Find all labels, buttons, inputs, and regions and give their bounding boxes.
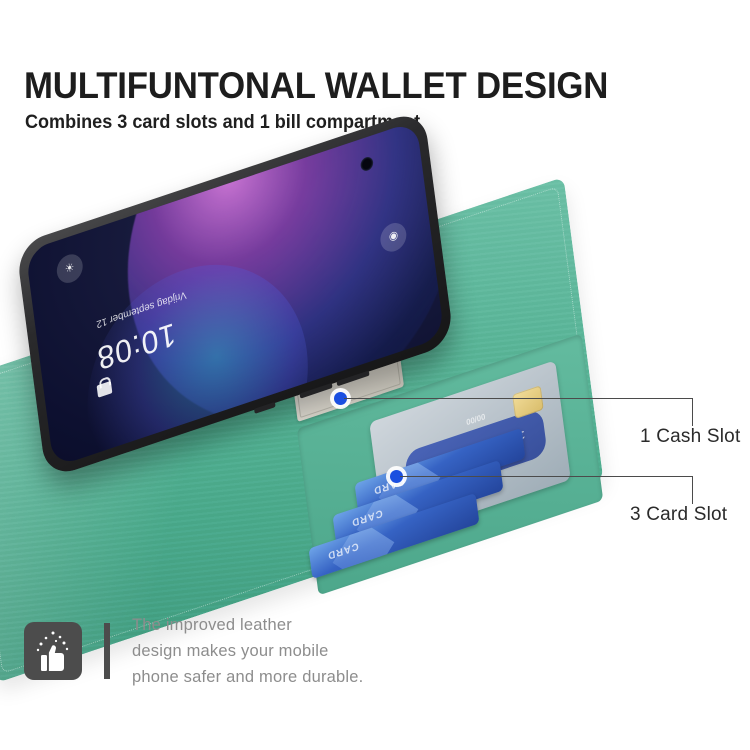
- thumbs-up-icon: [24, 622, 82, 680]
- flashlight-icon[interactable]: ☀: [55, 251, 84, 287]
- footer-line-2: design makes your mobile: [132, 638, 363, 664]
- callout-leader-card-slot-vertical: [692, 476, 693, 504]
- callout-leader-card-slot-horizontal: [400, 476, 692, 477]
- callout-label-cash-slot: 1 Cash Slot: [640, 426, 740, 448]
- card-slot-label: CARD: [326, 540, 359, 562]
- footer-feature-note: The improved leather design makes your m…: [24, 612, 363, 690]
- page-title: MULTIFUNTONAL WALLET DESIGN: [24, 66, 608, 106]
- callout-label-card-slot: 3 Card Slot: [630, 504, 727, 526]
- callout-leader-cash-slot-vertical: [692, 398, 693, 426]
- credit-card-expiry: 00/00: [466, 411, 486, 426]
- footer-divider: [104, 623, 110, 679]
- footer-line-1: The improved leather: [132, 612, 363, 638]
- callout-leader-cash-slot-horizontal: [344, 398, 692, 399]
- product-photo: 1234 5678 9012 3456 00/00 CARD CARD CARD…: [0, 160, 750, 600]
- footer-line-3: phone safer and more durable.: [132, 664, 363, 690]
- footer-text: The improved leather design makes your m…: [132, 612, 363, 690]
- product-feature-image: MULTIFUNTONAL WALLET DESIGN Combines 3 c…: [0, 0, 750, 750]
